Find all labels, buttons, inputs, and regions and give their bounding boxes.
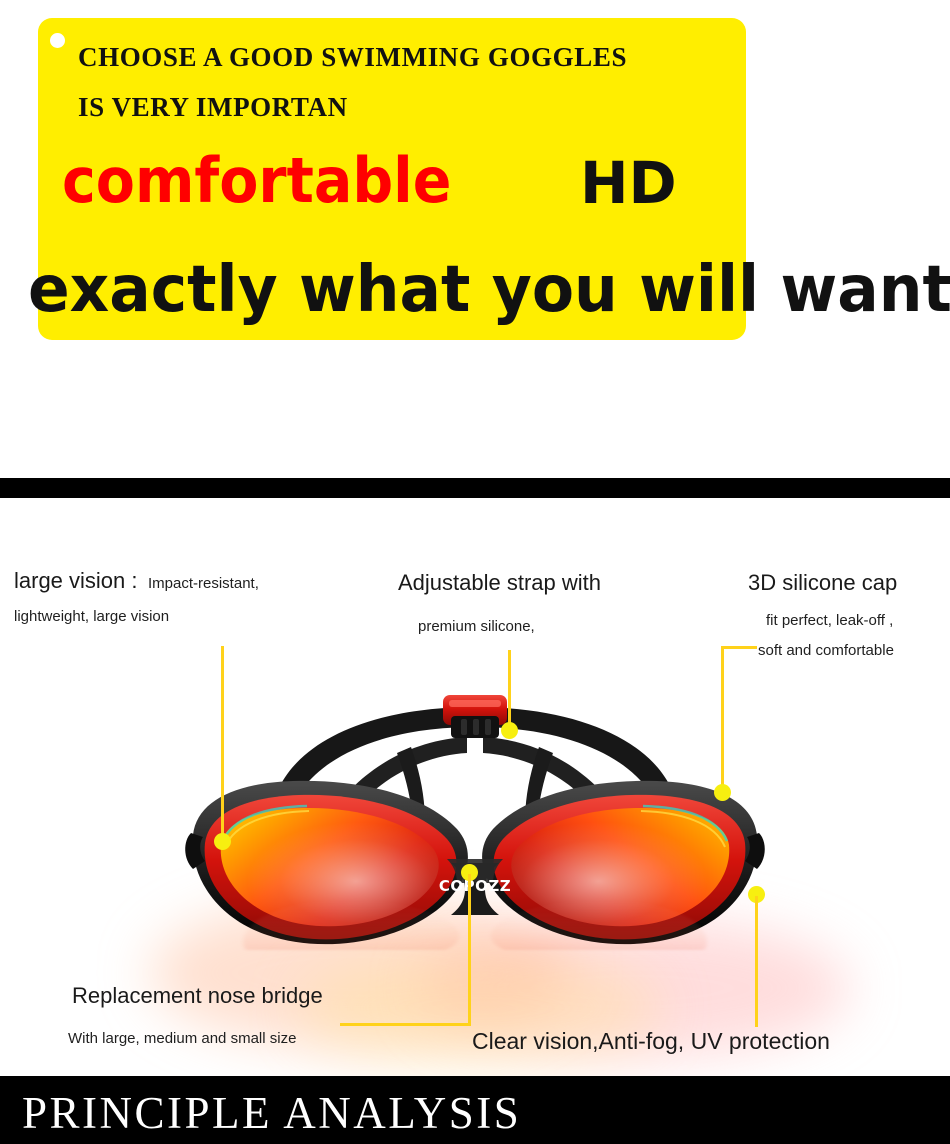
feature-callout-section: COPOZZ large	[0, 498, 950, 1076]
callout-title-clear-vision: Clear vision,Anti-fog, UV protection	[472, 1028, 830, 1055]
callout-sub-adjustable-strap: premium silicone,	[418, 618, 535, 635]
callout-title-large-vision: large vision :	[14, 568, 138, 594]
callout-sub2-silicone-cap: soft and comfortable	[758, 642, 894, 659]
callout-title-large-vision-text: large vision	[14, 568, 125, 593]
hero-tagline: exactly what you will want	[28, 258, 950, 322]
leader-line-nose-bridge-horizontal	[340, 1023, 471, 1026]
hero-section: CHOOSE A GOOD SWIMMING GOGGLES IS VERY I…	[0, 0, 950, 478]
leader-line-large-vision	[221, 646, 224, 841]
leader-line-adjustable-strap	[508, 650, 511, 730]
product-detail-page: CHOOSE A GOOD SWIMMING GOGGLES IS VERY I…	[0, 0, 950, 1144]
callout-desc-large-vision: Impact-resistant,	[148, 575, 259, 592]
leader-line-silicone-cap-horizontal	[721, 646, 757, 649]
banner-title: PRINCIPLE ANALYSIS	[22, 1087, 521, 1139]
buckle-highlight	[449, 700, 501, 707]
leader-line-silicone-cap-vertical	[721, 646, 724, 792]
callout-dot-silicone-cap	[714, 784, 731, 801]
callout-separator-colon: :	[131, 568, 137, 593]
leader-line-nose-bridge-vertical	[468, 874, 471, 1025]
callout-dot-adjustable-strap	[501, 722, 518, 739]
callout-title-nose-bridge: Replacement nose bridge	[72, 983, 323, 1009]
principle-analysis-banner: PRINCIPLE ANALYSIS	[0, 1076, 950, 1144]
leader-line-clear-vision	[755, 896, 758, 1027]
hero-emphasis-hd: HD	[580, 154, 677, 212]
hero-headline-line2: IS VERY IMPORTAN	[78, 92, 348, 123]
buckle-tooth-right	[485, 719, 491, 735]
callout-sub1-silicone-cap: fit perfect, leak-off ,	[766, 612, 893, 629]
callout-sub-nose-bridge: With large, medium and small size	[68, 1030, 296, 1047]
callout-title-adjustable-strap: Adjustable strap with	[398, 570, 601, 596]
callout-dot-large-vision	[214, 833, 231, 850]
buckle-tooth-mid	[473, 719, 479, 735]
swimming-goggles-image: COPOZZ	[175, 683, 775, 963]
brand-logo-text: COPOZZ	[439, 877, 511, 895]
tag-hole-icon	[50, 33, 65, 48]
hero-headline-line1: CHOOSE A GOOD SWIMMING GOGGLES	[78, 42, 627, 73]
hero-emphasis-comfortable: comfortable	[62, 150, 451, 212]
callout-title-silicone-cap: 3D silicone cap	[748, 570, 897, 596]
callout-sub-large-vision: lightweight, large vision	[14, 608, 169, 625]
section-divider-bar	[0, 478, 950, 498]
buckle-tooth-left	[461, 719, 467, 735]
